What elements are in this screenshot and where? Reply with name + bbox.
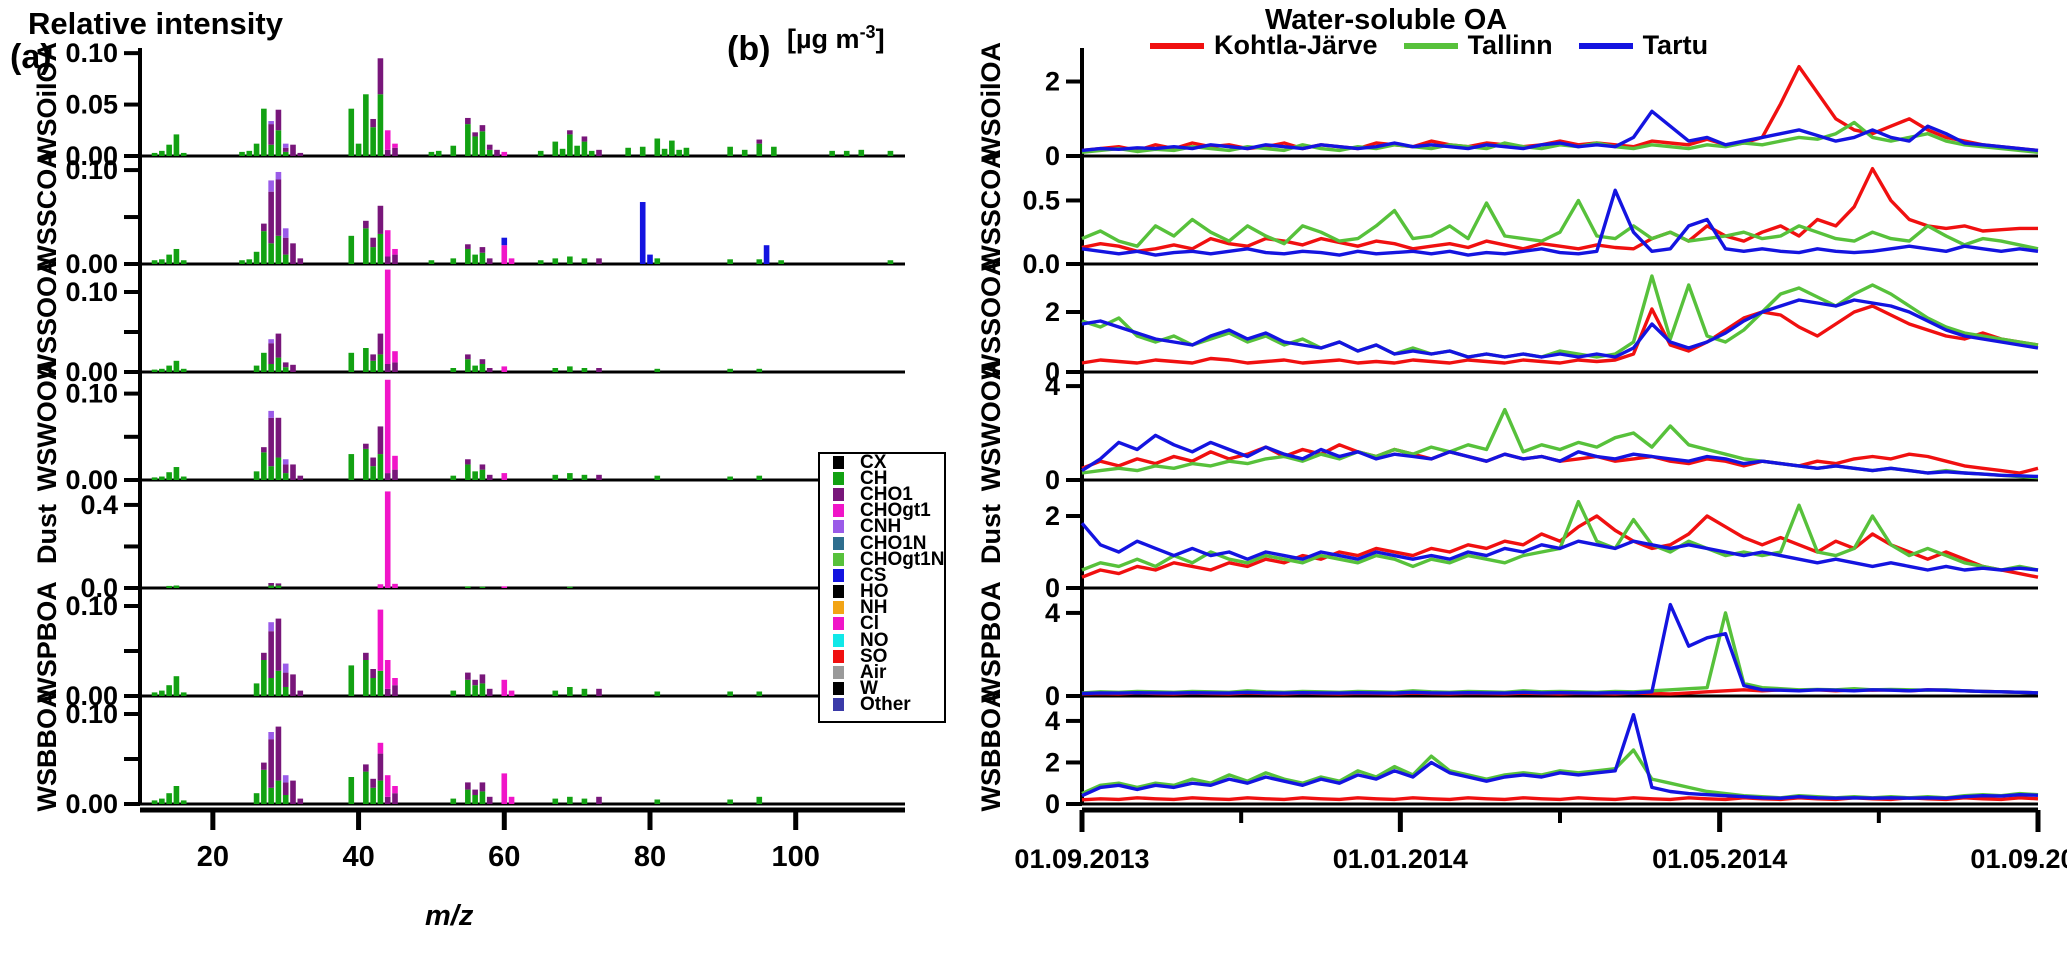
svg-text:WSWOOA: WSWOOA <box>976 361 1006 491</box>
svg-text:WSPBOA: WSPBOA <box>976 581 1006 703</box>
svg-text:WSOilOA: WSOilOA <box>976 42 1006 162</box>
legend-item-air: Air <box>820 664 944 680</box>
legend-swatch-icon <box>833 504 844 517</box>
svg-text:0.10: 0.10 <box>65 379 118 409</box>
svg-text:0.10: 0.10 <box>65 699 118 729</box>
svg-text:80: 80 <box>634 841 666 873</box>
svg-text:01.09.2014: 01.09.2014 <box>1970 844 2067 874</box>
legend-swatch-icon <box>833 472 844 485</box>
svg-text:0.0: 0.0 <box>1022 249 1060 279</box>
legend-swatch-icon <box>833 698 844 711</box>
panel-b-timeseries: 02WSOilOA0.00.5WSSCOA02WSSOOA04WSWOOA02D… <box>960 0 2067 953</box>
legend-swatch-icon <box>833 520 844 533</box>
svg-text:0.10: 0.10 <box>65 277 118 307</box>
svg-text:0.4: 0.4 <box>80 490 118 520</box>
svg-text:WSBBOA: WSBBOA <box>976 689 1006 812</box>
legend-swatch-icon <box>833 634 844 647</box>
svg-text:0: 0 <box>1045 465 1060 495</box>
svg-text:0: 0 <box>1045 789 1060 819</box>
legend-swatch-icon <box>833 650 844 663</box>
svg-text:WSWOOA: WSWOOA <box>32 361 62 491</box>
svg-text:40: 40 <box>342 841 374 873</box>
svg-text:WSOilOA: WSOilOA <box>32 42 62 162</box>
svg-text:WSSCOA: WSSCOA <box>32 149 62 271</box>
svg-text:2: 2 <box>1045 67 1060 97</box>
panel-b-units: [µg m-3] <box>787 22 885 55</box>
legend-swatch-icon <box>833 617 844 630</box>
units-main: [µg m <box>787 24 860 54</box>
svg-text:2: 2 <box>1045 747 1060 777</box>
svg-text:100: 100 <box>772 841 820 873</box>
legend-swatch-icon <box>833 569 844 582</box>
svg-text:4: 4 <box>1045 706 1060 736</box>
svg-text:01.01.2014: 01.01.2014 <box>1333 844 1468 874</box>
svg-text:0.10: 0.10 <box>65 155 118 185</box>
panel-a-mass-spectra: 0.000.050.10WSOilOA0.000.10WSSCOA0.000.1… <box>0 0 960 953</box>
panel-a-legend: CXCHCHO1CHOgt1CNHCHO1NCHOgt1NCSHONHClNOS… <box>818 452 946 723</box>
legend-item-other: Other <box>820 697 944 713</box>
panel-b-tag: (b) <box>727 30 770 69</box>
svg-text:0.00: 0.00 <box>65 249 118 279</box>
svg-text:0: 0 <box>1045 141 1060 171</box>
units-bracket: ] <box>876 24 885 54</box>
svg-text:WSPBOA: WSPBOA <box>32 581 62 703</box>
legend-swatch-icon <box>833 666 844 679</box>
svg-text:WSBBOA: WSBBOA <box>32 689 62 812</box>
legend-swatch-icon <box>833 585 844 598</box>
svg-text:WSSCOA: WSSCOA <box>976 149 1006 271</box>
legend-swatch-icon <box>833 488 844 501</box>
svg-text:2: 2 <box>1045 501 1060 531</box>
legend-label: Other <box>860 695 911 714</box>
svg-text:0.10: 0.10 <box>65 38 118 68</box>
legend-swatch-icon <box>833 601 844 614</box>
legend-swatch-icon <box>833 682 844 695</box>
svg-text:4: 4 <box>1045 371 1060 401</box>
svg-text:60: 60 <box>488 841 520 873</box>
legend-swatch-icon <box>833 537 844 550</box>
legend-swatch-icon <box>833 456 844 469</box>
svg-text:Dust: Dust <box>32 504 62 564</box>
svg-text:01.05.2014: 01.05.2014 <box>1652 844 1787 874</box>
svg-text:0.05: 0.05 <box>65 90 118 120</box>
units-exponent: -3 <box>860 22 876 42</box>
svg-text:2: 2 <box>1045 297 1060 327</box>
svg-text:0.5: 0.5 <box>1022 185 1060 215</box>
svg-text:0.10: 0.10 <box>65 591 118 621</box>
svg-text:01.09.2013: 01.09.2013 <box>1014 844 1149 874</box>
svg-text:4: 4 <box>1045 598 1060 628</box>
legend-item-nh: NH <box>820 600 944 616</box>
svg-text:20: 20 <box>197 841 229 873</box>
legend-swatch-icon <box>833 553 844 566</box>
svg-text:Dust: Dust <box>976 504 1006 564</box>
svg-text:0.00: 0.00 <box>65 789 118 819</box>
